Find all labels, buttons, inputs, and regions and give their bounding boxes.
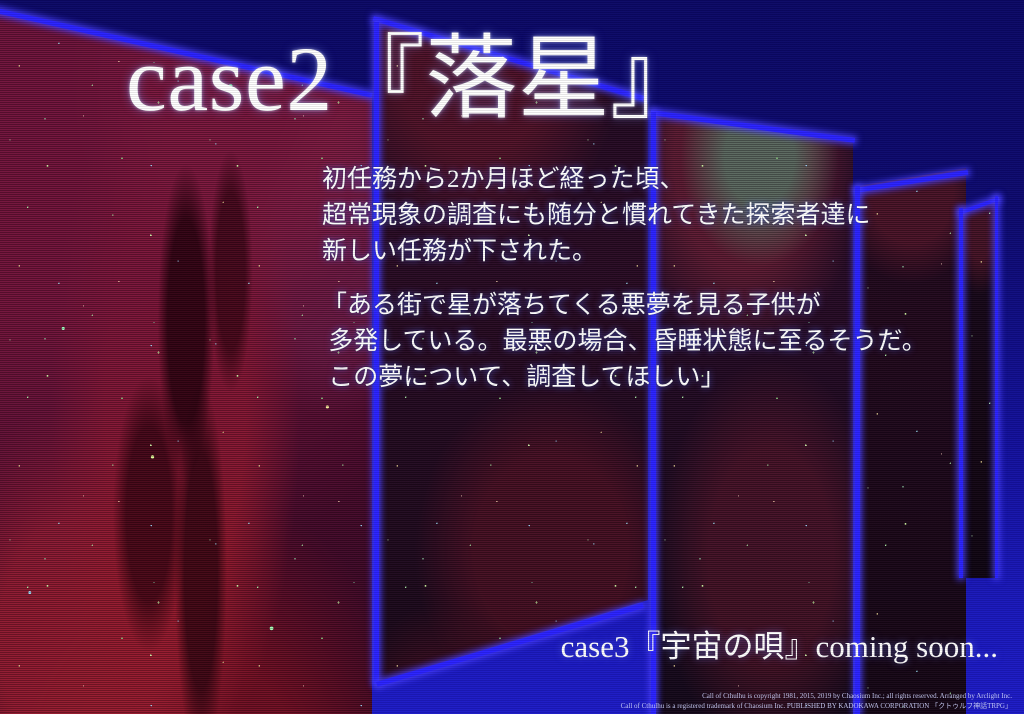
- copyright-notice: Call of Cthulhu is copyright 1981, 2015,…: [621, 691, 1012, 711]
- story-paragraph-1: 初任務から2か月ほど経った頃、 超常現象の調査にも随分と慣れてきた探索者達に 新…: [322, 162, 871, 270]
- next-episode-teaser: case3『宇宙の唄』coming soon...: [561, 621, 998, 666]
- story-paragraph-2: 「ある街で星が落ちてくる悪夢を見る子供が 多発している。最悪の場合、昏睡状態に至…: [322, 288, 927, 396]
- starfield-panel-5: [962, 196, 998, 578]
- copyright-line-1: Call of Cthulhu is copyright 1981, 2015,…: [621, 691, 1012, 701]
- starfield-art: [962, 196, 998, 578]
- slide-canvas: case2『落星』 初任務から2か月ほど経った頃、 超常現象の調査にも随分と慣れ…: [0, 0, 1024, 714]
- page-title: case2『落星』: [126, 33, 703, 125]
- copyright-line-2: Call of Cthulhu is a registered trademar…: [621, 701, 1012, 711]
